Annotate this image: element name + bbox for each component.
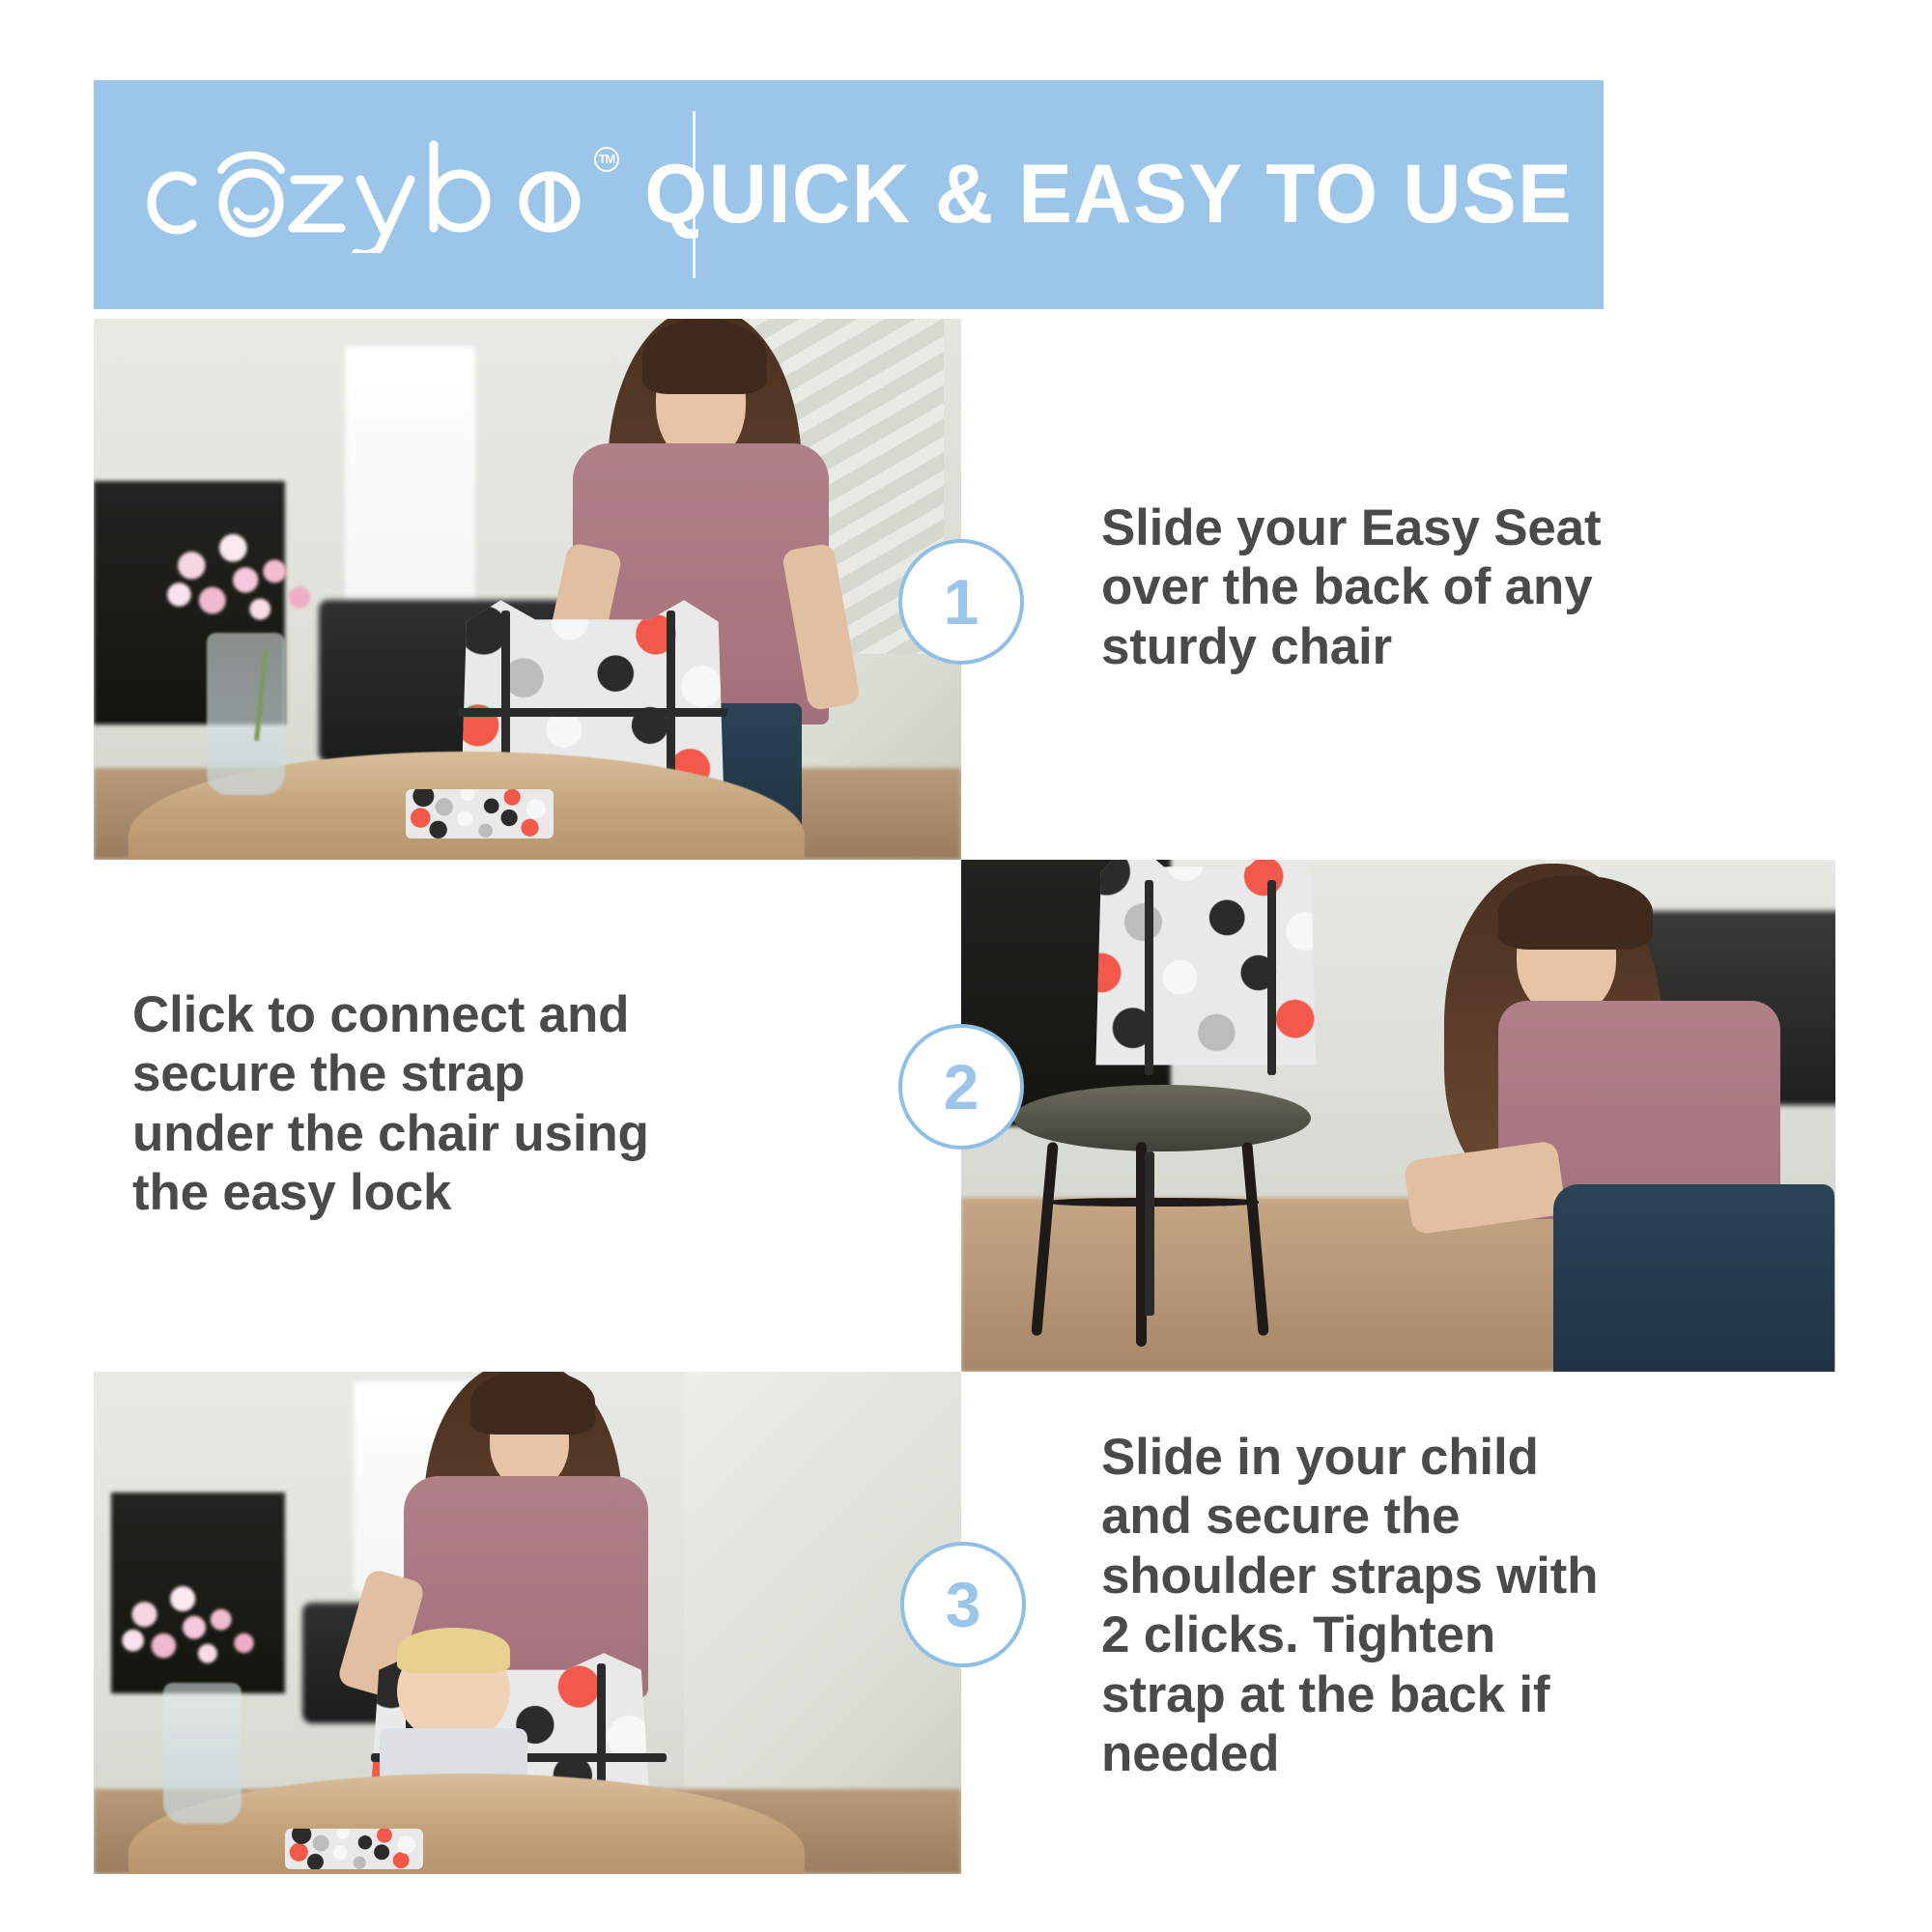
step-3-line-5: strap at the back if bbox=[1101, 1665, 1777, 1724]
step-1-text: Slide your Easy Seat over the back of an… bbox=[1101, 498, 1777, 676]
step-1-photo bbox=[94, 319, 961, 860]
step-1-line-2: over the back of any bbox=[1101, 557, 1777, 616]
step-2-photo bbox=[961, 860, 1835, 1372]
header-banner: TM QUICK & EASY TO USE bbox=[94, 80, 1604, 309]
step-2-line-4: the easy lock bbox=[132, 1163, 809, 1222]
step-2-line-1: Click to connect and bbox=[132, 985, 809, 1044]
step-3-line-1: Slide in your child bbox=[1101, 1428, 1777, 1487]
step-3-number-badge: 3 bbox=[900, 1542, 1026, 1667]
step-3-line-6: needed bbox=[1101, 1724, 1777, 1783]
step-1-line-1: Slide your Easy Seat bbox=[1101, 498, 1777, 557]
step-2-text: Click to connect and secure the strap un… bbox=[132, 985, 809, 1223]
step-3-text: Slide in your child and secure the shoul… bbox=[1101, 1428, 1777, 1784]
cozybaby-logo-icon bbox=[132, 137, 586, 253]
brand-logo: TM bbox=[94, 80, 590, 309]
step-1-line-3: sturdy chair bbox=[1101, 617, 1777, 676]
step-3-photo bbox=[94, 1372, 961, 1874]
step-2-line-2: secure the strap bbox=[132, 1044, 809, 1103]
step-2-line-3: under the chair using bbox=[132, 1104, 809, 1163]
step-1-number-badge: 1 bbox=[898, 539, 1024, 665]
step-2-number-badge: 2 bbox=[898, 1024, 1024, 1150]
page-title: QUICK & EASY TO USE bbox=[590, 147, 1573, 242]
infographic-page: TM QUICK & EASY TO USE bbox=[0, 0, 1932, 1932]
step-3-line-3: shoulder straps with bbox=[1101, 1547, 1777, 1605]
step-3-line-2: and secure the bbox=[1101, 1487, 1777, 1546]
step-3-line-4: 2 clicks. Tighten bbox=[1101, 1605, 1777, 1664]
